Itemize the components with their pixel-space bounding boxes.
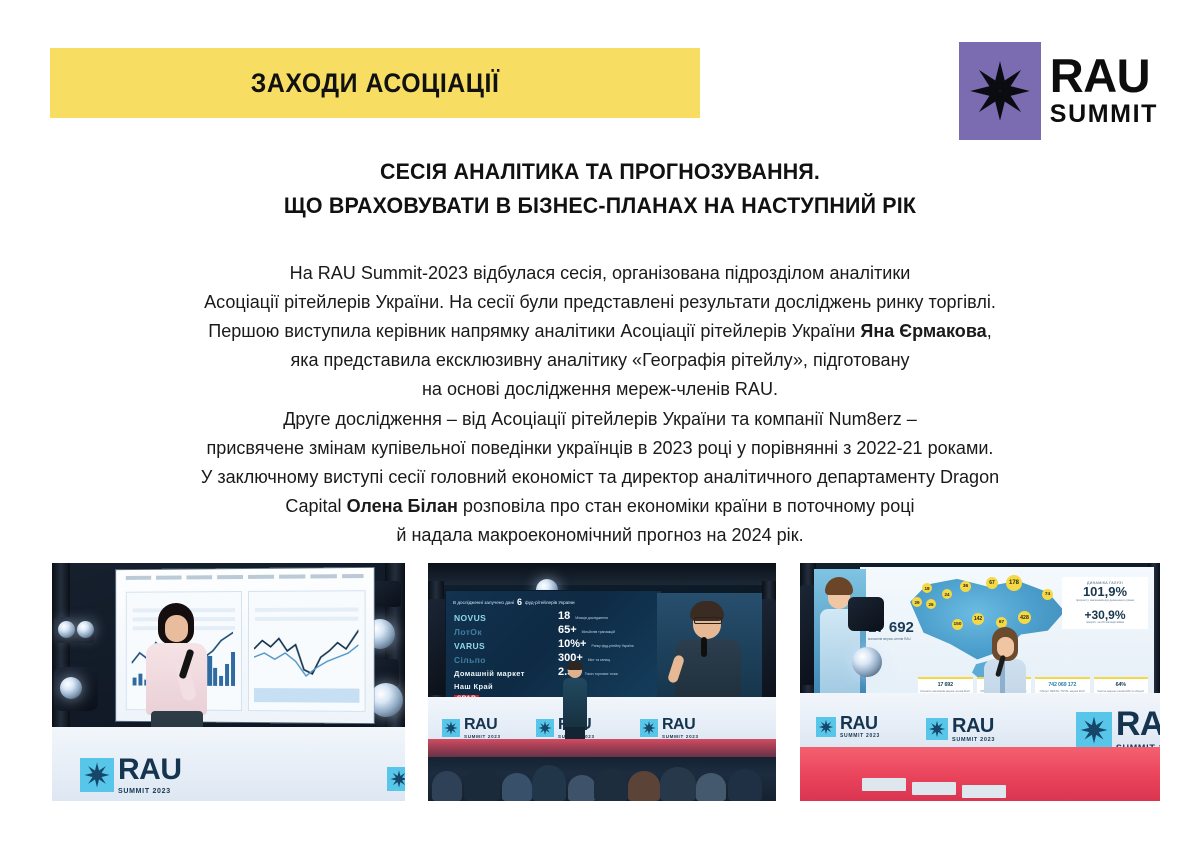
paragraph-second-line-3: У заключному виступі сесії головний екон…: [86, 462, 1114, 491]
rau-badge: RAU SUMMIT 2023: [640, 717, 699, 740]
paragraph-second: Друге дослідження – від Асоціації рітейл…: [70, 404, 1130, 549]
brand-novus: NOVUS: [454, 613, 550, 623]
rau-star-icon: [387, 767, 405, 791]
rau-badge: RAU SUMMIT 2023: [442, 717, 501, 740]
map-pin: 178: [1006, 575, 1022, 591]
rau-badge-word: RAU: [840, 714, 880, 732]
map-pin: 26: [926, 599, 936, 609]
paragraph-first-line-3-tail: ,: [987, 320, 992, 341]
speaker-name-bilan: Олена Білан: [347, 495, 458, 516]
stat-caption: Місяців дослідження: [575, 616, 608, 620]
stat-caption: Мільйонів транзакцій: [582, 630, 615, 634]
paragraph-second-line-1: Друге дослідження – від Асоціації рітейл…: [86, 404, 1114, 433]
presenter-figure: [562, 663, 588, 749]
logo-wordmark: RAU SUMMIT: [1050, 42, 1158, 140]
rau-badge: RAU SUMMIT 2023: [926, 716, 995, 744]
side-screen-preview: [814, 569, 866, 699]
rau-star-icon: [1076, 712, 1112, 748]
dynamics-caption-2: приріст за 20 місяців війни: [1086, 621, 1124, 625]
kpi-value: 17 692: [920, 682, 971, 688]
dynamics-value-1: 101,9%: [1083, 585, 1127, 599]
paragraph-first-line-4: яка представила ексклюзивну аналітику «Г…: [86, 345, 1114, 374]
rau-star-icon: [80, 758, 114, 792]
slide-headline-before: В дослідженні залучено дані: [453, 600, 514, 605]
photo-speaker-charts: RAU SUMMIT 2023: [52, 563, 405, 801]
audience: [428, 739, 776, 801]
rau-star-icon: [442, 719, 460, 737]
slide-headline: В дослідженні залучено дані 6 фуд-рітейл…: [453, 597, 654, 607]
paragraph-second-line-4-tail: розповіла про стан економіки країни в по…: [458, 495, 915, 516]
map-pin: 142: [972, 613, 984, 625]
brand-varus: VARUS: [454, 641, 550, 651]
rau-badge-subword: SUMMIT 2023: [952, 738, 995, 744]
map-pin: 24: [942, 589, 952, 599]
rau-star-icon: [640, 719, 658, 737]
paragraph-first-line-5: на основі дослідження мереж-членів RAU.: [86, 374, 1114, 403]
paragraph-first-line-1: На RAU Summit-2023 відбулася сесія, орга…: [86, 258, 1114, 287]
paragraph-second-line-5: й надала макроекономічний прогноз на 202…: [86, 520, 1114, 549]
slide-industry-dynamics: ДИНАМІКА ГАЛУЗІ 101,9% приросту магазині…: [1062, 577, 1148, 629]
rau-star-icon: [816, 717, 836, 737]
rau-badge-word: RAU: [1116, 707, 1160, 741]
page-title-line-1: СЕСІЯ АНАЛІТИКА ТА ПРОГНОЗУВАННЯ.: [116, 155, 1085, 189]
paragraph-first-line-3: Першою виступила керівник напрямку аналі…: [86, 316, 1114, 345]
page-title-line-2: ЩО ВРАХОВУВАТИ В БІЗНЕС-ПЛАНАХ НА НАСТУП…: [116, 189, 1085, 223]
paragraph-first: На RAU Summit-2023 відбулася сесія, орга…: [70, 258, 1130, 403]
photo-gallery: RAU SUMMIT 2023: [0, 563, 1200, 803]
rau-badge-word: RAU: [952, 716, 995, 736]
map-pin: 150: [952, 619, 963, 630]
map-pin: 18: [922, 583, 932, 593]
logo-rau-text: RAU: [1050, 53, 1158, 98]
dynamics-caption-1: приросту магазинів від довоєнного рівня: [1076, 599, 1134, 603]
eight-pointed-star-icon: [959, 42, 1041, 140]
paragraph-first-line-3-text: Першою виступила керівник напрямку аналі…: [208, 320, 860, 341]
slide-headline-number: 6: [517, 597, 522, 607]
rau-badge-subword: SUMMIT 2023: [840, 734, 880, 739]
rau-badge-subword: SUMMIT 2023: [118, 788, 182, 795]
stat-value: 10%+: [558, 639, 586, 650]
rau-star-icon: [926, 718, 948, 740]
rau-badge: RAU SUMMIT 2023: [816, 714, 880, 739]
rau-badge-word: RAU: [118, 755, 182, 785]
paragraph-second-line-4-head: Capital: [285, 495, 346, 516]
paragraph-second-line-2: присвячене змінам купівельної поведінки …: [86, 433, 1114, 462]
kpi-value: 64%: [1096, 682, 1147, 688]
rau-badge-word: RAU: [464, 717, 501, 733]
brand-domashniy: Домашній маркет: [454, 669, 550, 678]
stat-caption: Ринку фуд-рітейлу України: [591, 644, 633, 648]
page-title: СЕСІЯ АНАЛІТИКА ТА ПРОГНОЗУВАННЯ. ЩО ВРА…: [90, 155, 1110, 223]
slide-headline-after: фуд-рітейлерів України: [525, 600, 575, 605]
slide-stat-item: 10%+ Ринку фуд-рітейлу України: [558, 639, 655, 650]
map-pin: 74: [1042, 589, 1053, 600]
logo-summit-text: SUMMIT: [1050, 100, 1158, 129]
map-pin: 428: [1018, 611, 1031, 624]
section-title-text: ЗАХОДИ АСОЦІАЦІЇ: [251, 68, 500, 99]
slide-stat-item: 65+ Мільйонів транзакцій: [558, 625, 655, 636]
stat-caption: Міст та селищ: [588, 658, 610, 662]
map-pin: 67: [986, 577, 998, 589]
rau-badge-word: RAU: [662, 717, 699, 733]
brand-nash-krai: Наш Край: [454, 682, 550, 691]
kpi-value: 742 069 172: [1037, 682, 1088, 688]
photo-map-slide: 18 29 26 24 36 67 178 74 142 67 428 150 …: [800, 563, 1160, 801]
rau-badge-partial: [387, 767, 405, 791]
stat-caption: Тисяч торгових точок: [585, 672, 618, 676]
stat-value: 18: [558, 611, 570, 622]
rau-star-icon: [536, 719, 554, 737]
slide-stat-item: 18 Місяців дослідження: [558, 611, 655, 622]
rau-summit-logo: RAU SUMMIT: [959, 42, 1158, 140]
brand-lotok: ЛотОк: [454, 627, 550, 637]
paragraph-second-line-4: Capital Олена Білан розповіла про стан е…: [86, 491, 1114, 520]
brand-silpo: Сільпо: [454, 655, 550, 665]
photo-led-wall-stats: В дослідженні залучено дані 6 фуд-рітейл…: [428, 563, 776, 801]
map-pin: 29: [912, 597, 922, 607]
side-screen-speaker: [657, 593, 762, 713]
paragraph-first-line-2: Асоціації рітейлерів України. На сесії б…: [86, 287, 1114, 316]
speaker-name-yermakova: Яна Єрмакова: [860, 320, 986, 341]
slide-brand-list: NOVUS ЛотОк VARUS Сільпо Домашній маркет…: [454, 613, 550, 702]
page-header: ЗАХОДИ АСОЦІАЦІЇ RAU SUMMIT: [0, 0, 1200, 150]
section-title-banner: ЗАХОДИ АСОЦІАЦІЇ: [50, 48, 700, 118]
stat-value: 65+: [558, 625, 577, 636]
map-pin: 36: [960, 581, 971, 592]
rau-badge: RAU SUMMIT 2023: [80, 755, 182, 795]
slide-big-number-caption: магазинів мереж-членів RAU: [868, 637, 911, 641]
